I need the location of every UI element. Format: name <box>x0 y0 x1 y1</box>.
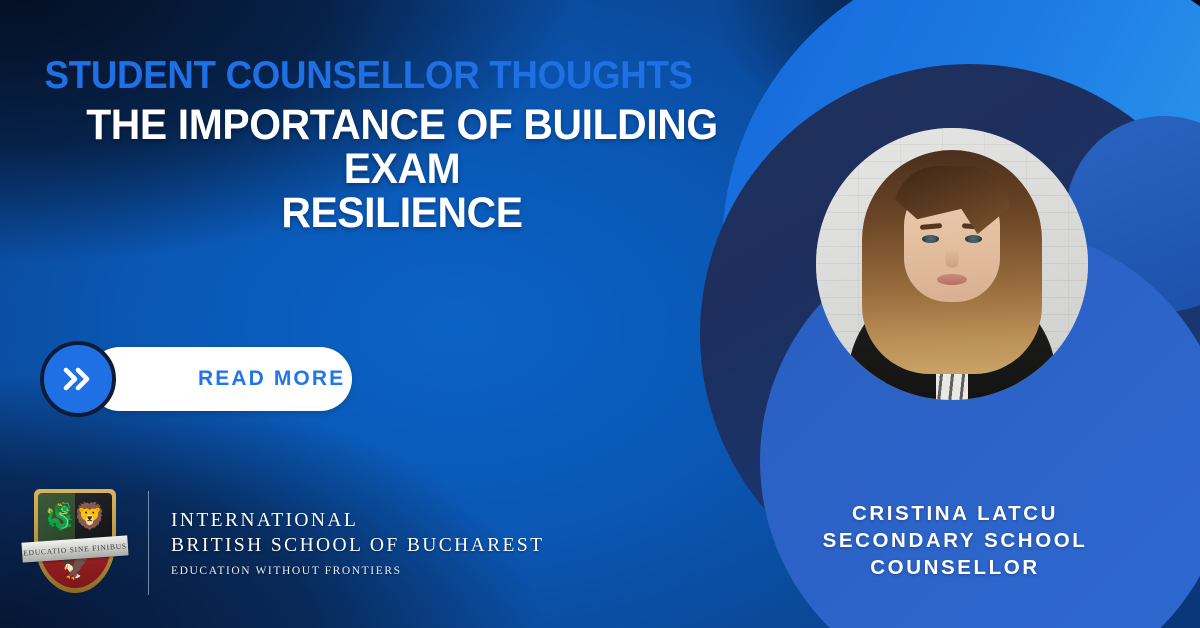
school-name-block: INTERNATIONAL BRITISH SCHOOL OF BUCHARES… <box>171 509 544 577</box>
school-tagline: EDUCATION WITHOUT FRONTIERS <box>171 565 544 577</box>
banner-headline: THE IMPORTANCE OF BUILDING EXAM RESILIEN… <box>14 104 790 236</box>
crest-quarter-green: 🐉 <box>38 493 75 544</box>
logo-divider <box>148 491 149 595</box>
presenter-name: CRISTINA LATCU <box>760 500 1150 527</box>
read-more-button[interactable]: READ MORE <box>40 341 352 417</box>
double-chevron-right-icon <box>61 366 95 392</box>
crest-motto-text: EDUCATIO SINE FINIBUS <box>23 541 127 557</box>
school-logo-block: 🐉 🦁 🦅 EDUCATIO SINE FINIBUS INTERNATIONA… <box>22 487 544 599</box>
portrait-nose <box>946 248 959 268</box>
presenter-caption: CRISTINA LATCU SECONDARY SCHOOL COUNSELL… <box>760 500 1150 581</box>
presenter-portrait-photo <box>816 128 1088 400</box>
portrait-eye-right <box>965 235 982 243</box>
read-more-icon-circle[interactable] <box>40 341 116 417</box>
crest-dragon-icon: 🐉 <box>44 503 76 529</box>
promo-banner: STUDENT COUNSELLOR THOUGHTS THE IMPORTAN… <box>0 0 1200 628</box>
headline-line-1: THE IMPORTANCE OF BUILDING EXAM <box>33 104 770 192</box>
school-name-line-2: BRITISH SCHOOL OF BUCHAREST <box>171 534 544 559</box>
read-more-pill[interactable]: READ MORE <box>88 347 352 411</box>
portrait-lips <box>937 274 967 285</box>
school-name-line-1: INTERNATIONAL <box>171 509 544 534</box>
school-crest-icon: 🐉 🦁 🦅 EDUCATIO SINE FINIBUS <box>22 487 128 599</box>
read-more-label: READ MORE <box>198 367 345 391</box>
crest-lion-icon: 🦁 <box>74 503 106 529</box>
headline-line-2: RESILIENCE <box>33 192 770 236</box>
presenter-role-line-2: COUNSELLOR <box>760 554 1150 581</box>
banner-kicker: STUDENT COUNSELLOR THOUGHTS <box>34 56 703 95</box>
presenter-role-line-1: SECONDARY SCHOOL <box>760 527 1150 554</box>
portrait-eye-left <box>922 235 939 243</box>
